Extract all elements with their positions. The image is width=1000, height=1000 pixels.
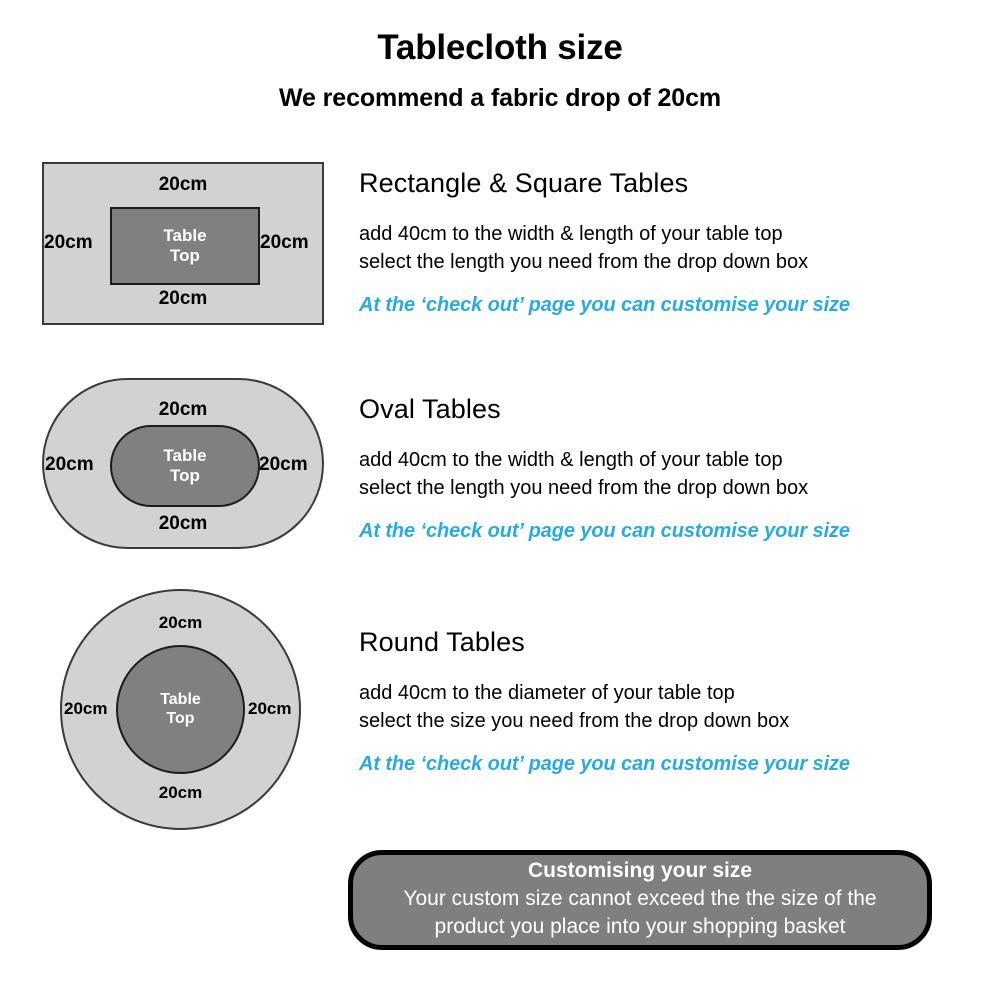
rectangle-table-top: Table Top (110, 207, 260, 285)
oval-table-top: Table Top (110, 425, 260, 507)
round-drop-label-right: 20cm (248, 699, 291, 719)
round-section-heading: Round Tables (359, 627, 979, 658)
rectangle-drop-label-bottom: 20cm (42, 288, 324, 310)
table-top-label-line1: Table (160, 691, 201, 710)
table-top-label-line2: Top (170, 466, 200, 486)
rectangle-section-text: Rectangle & Square Tables add 40cm to th… (359, 168, 979, 317)
oval-drop-label-right: 20cm (259, 454, 308, 476)
rectangle-checkout-note: At the ‘check out’ page you can customis… (359, 294, 979, 317)
page-title: Tablecloth size (0, 28, 1000, 68)
round-section-text: Round Tables add 40cm to the diameter of… (359, 627, 979, 776)
round-drop-label-left: 20cm (64, 699, 107, 719)
round-drop-label-top: 20cm (60, 613, 301, 633)
rectangle-drop-label-top: 20cm (42, 174, 324, 196)
oval-instruction-line-1: add 40cm to the width & length of your t… (359, 447, 979, 475)
oval-drop-label-top: 20cm (42, 399, 324, 421)
table-top-label-line2: Top (166, 710, 194, 729)
callout-body-line-2: product you place into your shopping bas… (435, 913, 846, 941)
rectangle-drop-label-right: 20cm (260, 232, 309, 254)
callout-body-line-1: Your custom size cannot exceed the the s… (403, 885, 876, 913)
round-instruction-line-1: add 40cm to the diameter of your table t… (359, 680, 979, 708)
table-top-label-line1: Table (163, 446, 206, 466)
round-checkout-note: At the ‘check out’ page you can customis… (359, 753, 979, 776)
oval-checkout-note: At the ‘check out’ page you can customis… (359, 520, 979, 543)
oval-drop-label-left: 20cm (45, 454, 94, 476)
table-top-label-line1: Table (163, 226, 206, 246)
round-table-top: Table Top (116, 645, 245, 774)
rectangle-instruction-line-2: select the length you need from the drop… (359, 249, 979, 277)
oval-drop-label-bottom: 20cm (42, 513, 324, 535)
round-instruction-line-2: select the size you need from the drop d… (359, 708, 979, 736)
oval-instruction-line-2: select the length you need from the drop… (359, 475, 979, 503)
table-top-label-line2: Top (170, 246, 200, 266)
page-subtitle: We recommend a fabric drop of 20cm (0, 84, 1000, 113)
rectangle-instruction-line-1: add 40cm to the width & length of your t… (359, 221, 979, 249)
round-drop-label-bottom: 20cm (60, 783, 301, 803)
rectangle-drop-label-left: 20cm (44, 232, 93, 254)
oval-section-text: Oval Tables add 40cm to the width & leng… (359, 394, 979, 543)
rectangle-section-heading: Rectangle & Square Tables (359, 168, 979, 199)
oval-section-heading: Oval Tables (359, 394, 979, 425)
callout-title: Customising your size (528, 859, 752, 883)
customising-your-size-callout: Customising your size Your custom size c… (348, 850, 932, 950)
